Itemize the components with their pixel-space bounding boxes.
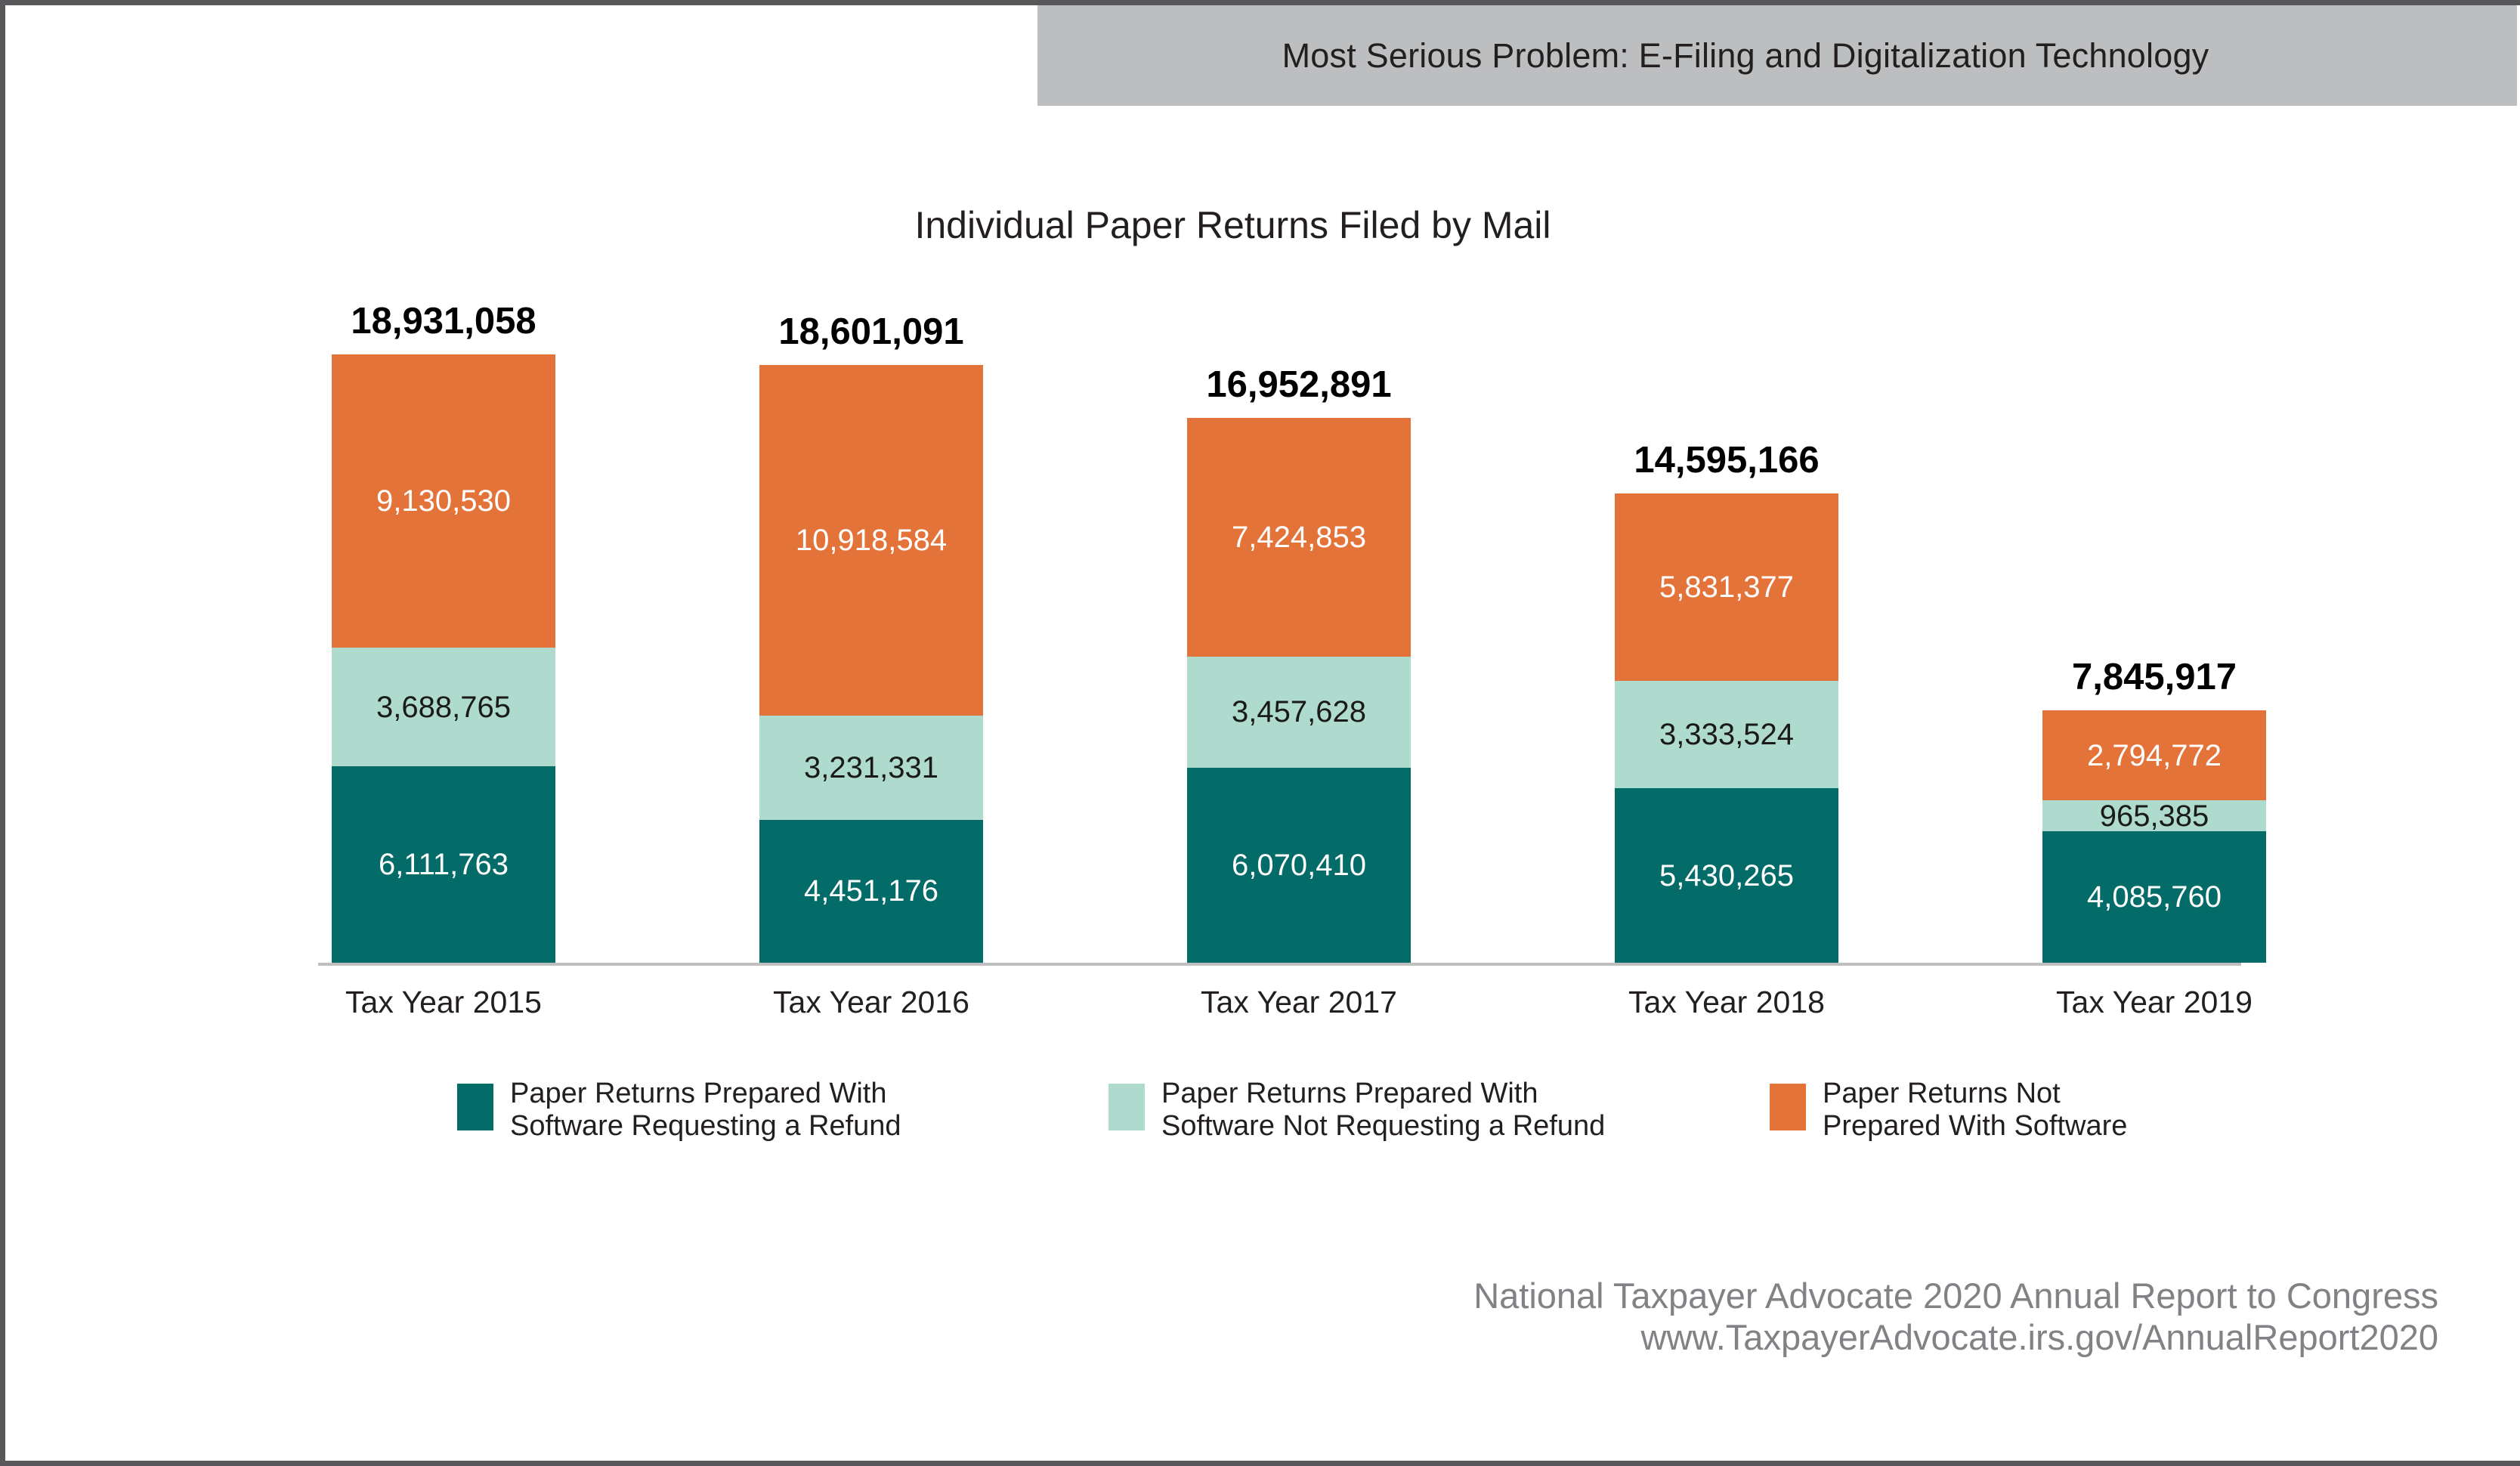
legend-swatch-icon [457,1084,493,1130]
bar-segment-value: 6,070,410 [1232,850,1366,880]
legend-item[interactable]: Paper Returns Prepared With Software Req… [457,1078,901,1142]
bar-segment: 5,831,377 [1615,493,1838,681]
category-label: Tax Year 2015 [270,985,617,1020]
bar-total-label: 18,601,091 [697,311,1045,353]
bar-segment-value: 3,231,331 [804,753,938,783]
x-axis-line [318,963,2241,966]
bar-stack: 5,430,2653,333,5245,831,377 [1615,493,1838,963]
bar-segment: 9,130,530 [332,354,555,648]
legend-item[interactable]: Paper Returns Prepared With Software Not… [1108,1078,1605,1142]
bar-stack: 6,070,4103,457,6287,424,853 [1187,418,1411,963]
legend-label: Paper Returns Prepared With Software Not… [1161,1078,1605,1142]
footer-line-2: www.TaxpayerAdvocate.irs.gov/AnnualRepor… [1473,1316,2438,1358]
footer-attribution: National Taxpayer Advocate 2020 Annual R… [1473,1275,2438,1359]
bar-segment-value: 10,918,584 [796,525,947,555]
bar-segment: 6,111,763 [332,766,555,963]
bar-segment-value: 6,111,763 [379,849,509,880]
bar-segment-value: 3,457,628 [1232,697,1366,727]
bar-total-label: 16,952,891 [1125,363,1473,406]
bar-segment: 3,457,628 [1187,657,1411,768]
bar-segment-value: 3,333,524 [1659,719,1794,750]
legend-item[interactable]: Paper Returns Not Prepared With Software [1770,1078,2127,1142]
plot-area: 6,111,7633,688,7659,130,53018,931,0584,4… [5,5,2520,1466]
legend-swatch-icon [1108,1084,1145,1130]
bar-stack: 6,111,7633,688,7659,130,530 [332,354,555,963]
legend-label: Paper Returns Not Prepared With Software [1823,1078,2127,1142]
bar-segment: 3,688,765 [332,648,555,766]
bar-segment: 7,424,853 [1187,418,1411,657]
bar-stack: 4,085,760965,3852,794,772 [2042,710,2266,963]
bar-segment-value: 2,794,772 [2087,741,2222,771]
bar-segment: 5,430,265 [1615,788,1838,963]
bar-segment-value: 4,451,176 [804,876,938,906]
bar-segment: 4,451,176 [759,820,983,963]
legend-label: Paper Returns Prepared With Software Req… [510,1078,901,1142]
category-label: Tax Year 2018 [1553,985,1900,1020]
bar-segment-value: 4,085,760 [2087,882,2222,912]
chart-legend: Paper Returns Prepared With Software Req… [5,1078,2520,1161]
bar-segment-value: 3,688,765 [376,692,511,722]
bar-segment-value: 5,430,265 [1659,861,1794,891]
bar-segment: 2,794,772 [2042,710,2266,800]
bar-segment: 6,070,410 [1187,768,1411,963]
bar-total-label: 14,595,166 [1553,439,1900,481]
bar-segment: 965,385 [2042,800,2266,831]
bar-segment-value: 7,424,853 [1232,522,1366,552]
legend-swatch-icon [1770,1084,1806,1130]
bar-segment: 10,918,584 [759,365,983,716]
bar-segment-value: 5,831,377 [1659,572,1794,602]
bar-total-label: 7,845,917 [1980,656,2328,698]
bar-segment: 3,333,524 [1615,681,1838,788]
bar-segment-value: 965,385 [2100,801,2209,831]
category-label: Tax Year 2016 [697,985,1045,1020]
bar-total-label: 18,931,058 [270,300,617,342]
bar-stack: 4,451,1763,231,33110,918,584 [759,365,983,963]
category-label: Tax Year 2017 [1125,985,1473,1020]
footer-line-1: National Taxpayer Advocate 2020 Annual R… [1473,1275,2438,1316]
chart-page: Most Serious Problem: E-Filing and Digit… [0,0,2520,1466]
bar-segment: 4,085,760 [2042,831,2266,963]
bar-segment: 3,231,331 [759,716,983,819]
category-label: Tax Year 2019 [1980,985,2328,1020]
bar-segment-value: 9,130,530 [376,486,511,516]
